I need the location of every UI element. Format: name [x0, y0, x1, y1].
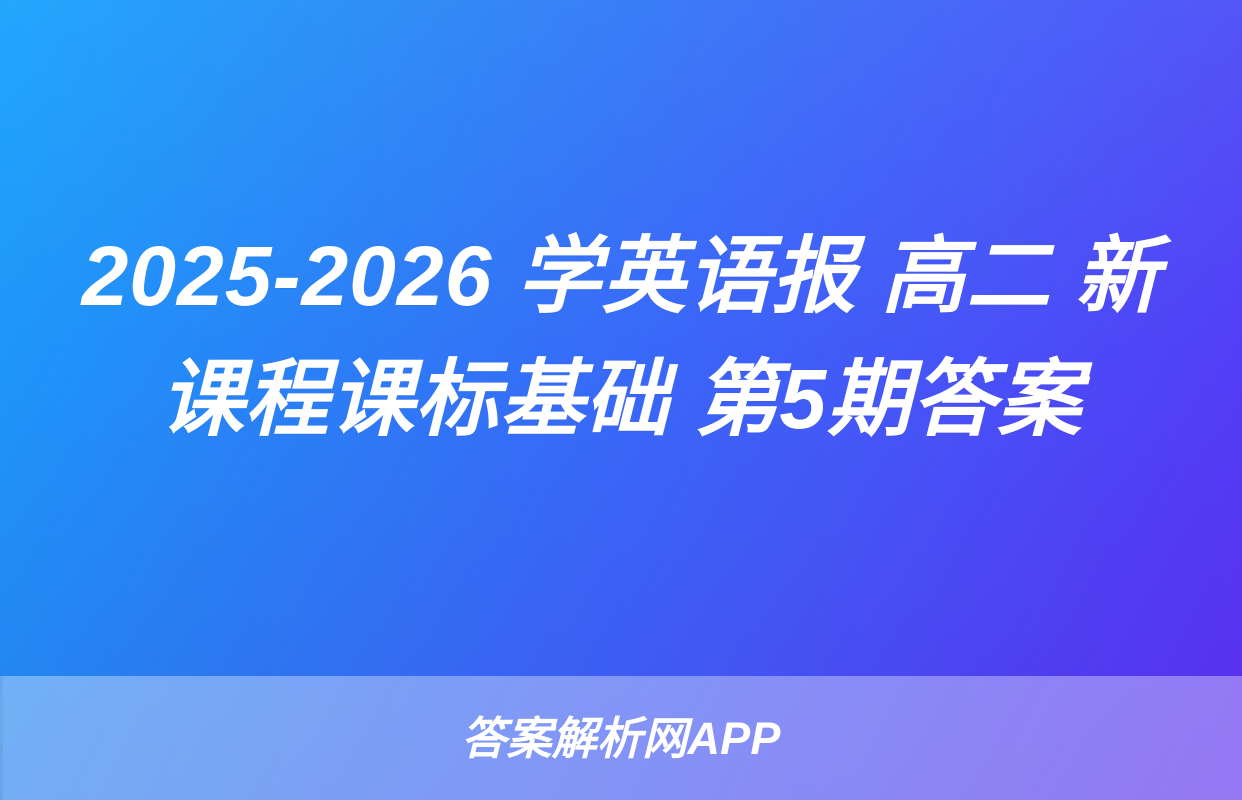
- footer-brand-band: 答案解析网APP: [0, 676, 1242, 800]
- app-brand-label: 答案解析网APP: [461, 716, 780, 761]
- headline-container: 2025-2026 学英语报 高二 新课程课标基础 第5期答案: [0, 0, 1242, 676]
- page-title: 2025-2026 学英语报 高二 新课程课标基础 第5期答案: [52, 215, 1190, 462]
- answer-card: 2025-2026 学英语报 高二 新课程课标基础 第5期答案 答案解析网APP: [0, 0, 1242, 800]
